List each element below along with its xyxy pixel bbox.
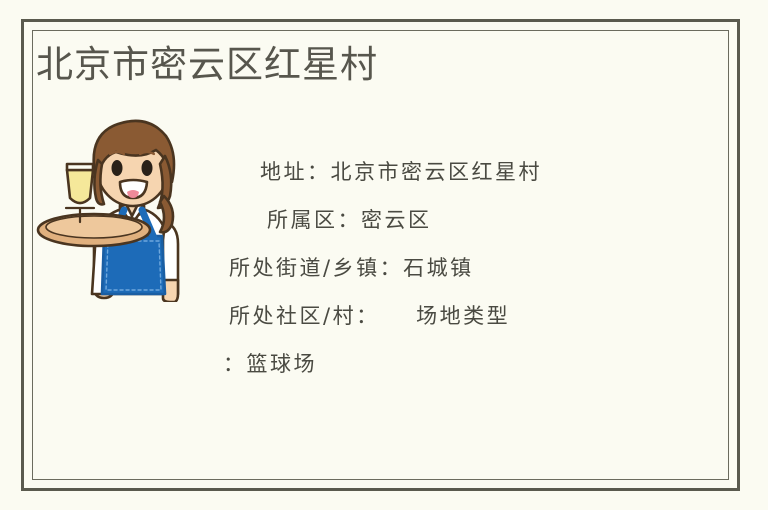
detail-line-street-town: 所处街道/乡镇：石城镇 — [205, 244, 685, 292]
poster-card: 北京市密云区红星村 — [0, 0, 768, 510]
detail-line-district: 所属区：密云区 — [205, 196, 685, 244]
venue-details: 地址：北京市密云区红星村 所属区：密云区 所处街道/乡镇：石城镇 所处社区/村：… — [205, 148, 685, 388]
waitress-illustration — [32, 112, 202, 302]
detail-line-venue-type: ：篮球场 — [205, 340, 685, 388]
detail-line-community-village: 所处社区/村： 场地类型 — [205, 292, 685, 340]
page-title: 北京市密云区红星村 — [36, 42, 378, 88]
detail-line-address: 地址：北京市密云区红星村 — [205, 148, 685, 196]
